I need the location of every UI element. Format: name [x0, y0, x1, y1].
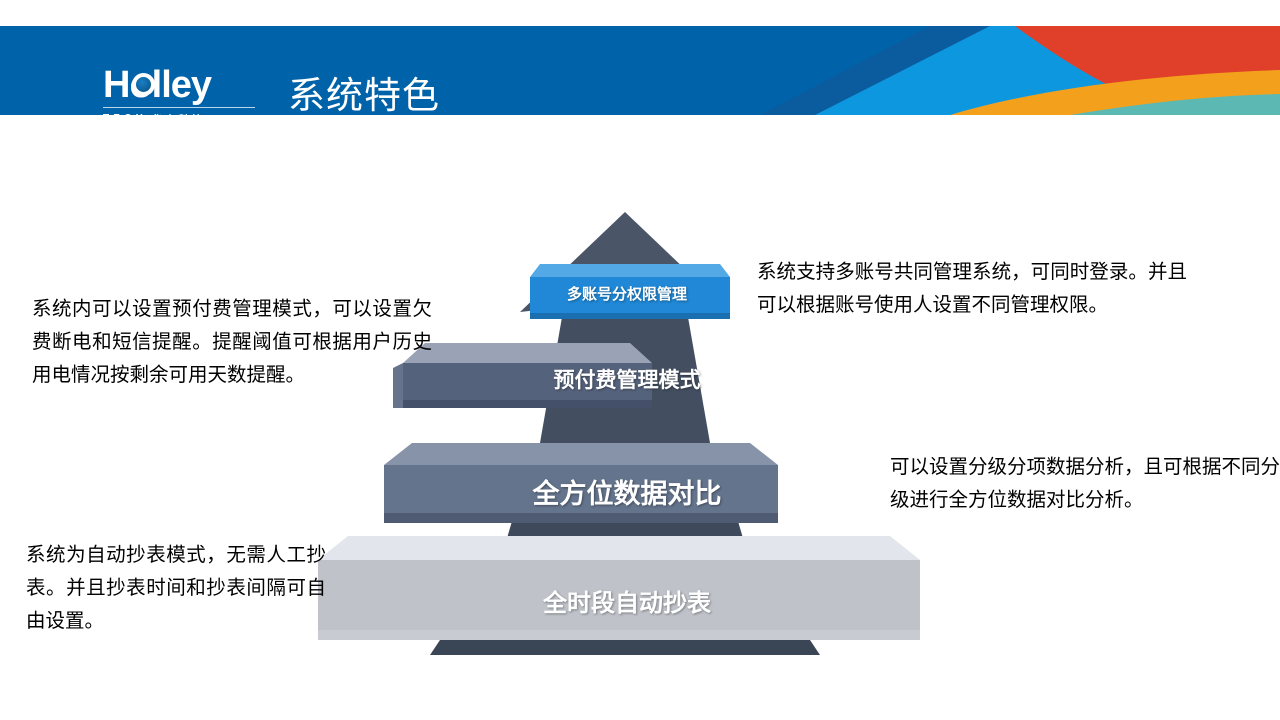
pyramid-level-1-label: 多账号分权限管理: [447, 283, 807, 304]
brand-logo-text: Holley: [103, 66, 255, 104]
annotation-prepaid-management: 系统内可以设置预付费管理模式，可以设置欠费断电和短信提醒。提醒阈值可根据用户历史…: [32, 292, 432, 391]
page-title: 系统特色: [288, 74, 440, 115]
logo-ring-icon: [132, 73, 155, 96]
decorative-ribbon: [760, 26, 1280, 115]
brand-logo: Holley TECH 华立科技: [103, 66, 255, 115]
brand-logo-wordmark: Holley: [103, 64, 211, 106]
brand-logo-subtitle: TECH 华立科技: [103, 107, 255, 115]
annotation-multi-account: 系统支持多账号共同管理系统，可同时登录。并且可以根据账号使用人设置不同管理权限。: [757, 255, 1187, 321]
brand-sub-cn: 华立科技: [152, 111, 205, 115]
pyramid-level-4-label: 全时段自动抄表: [317, 583, 937, 618]
annotation-auto-meter-reading: 系统为自动抄表模式，无需人工抄表。并且抄表时间和抄表间隔可自由设置。: [26, 538, 326, 637]
pyramid-level-3-label: 全方位数据对比: [387, 472, 867, 511]
pyramid-level-2-label: 预付费管理模式: [417, 364, 837, 394]
brand-sub-en: TECH: [103, 113, 147, 115]
page-header: Holley TECH 华立科技 系统特色: [0, 26, 1280, 115]
annotation-data-comparison: 可以设置分级分项数据分析，且可根据不同分级进行全方位数据对比分析。: [890, 450, 1280, 516]
